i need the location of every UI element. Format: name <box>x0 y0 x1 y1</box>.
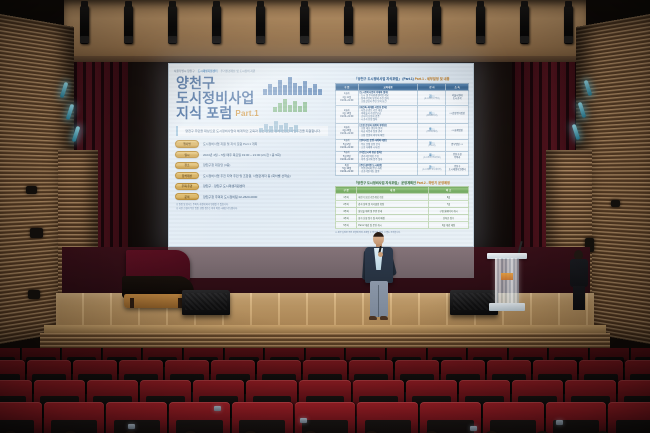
slide-left-column: 양천구 도시정비사업 지식 포럼 Part.1 양천구 주민을 대상으로 도시정… <box>173 75 331 240</box>
schedule-cell-time: 4회차5월 2일19:00~21:00 <box>336 139 359 151</box>
schedule-table-1-row: 2회차4월 18일19:00~21:00[재건축·재개발 사업성 분석]· 사업… <box>336 106 469 124</box>
schedule-cell-topic: [재건축·재개발 사업성 분석]· 사업성 검토 기본 개념· 비례율과 추정분… <box>358 106 418 124</box>
schedule-cell-speaker: 정○○(변호사) <box>418 139 446 151</box>
auditorium-seat <box>546 402 607 433</box>
schedule-cell-speaker: 이○○(감정평가사) <box>418 106 446 124</box>
schedule-table-1: 구 분교육내용강 사소 속 1회차4월 11일19:00~21:00[도시정비사… <box>335 83 469 176</box>
skyline-bar <box>273 87 277 95</box>
schedule-table-2-cell: 5주차 <box>336 222 357 229</box>
wall-fixture-right-upper <box>611 200 620 207</box>
schedule-cell-speaker: 박○○(공인회계사) <box>418 124 446 139</box>
slide-title-line-3: 지식 포럼 <box>176 106 232 121</box>
slide-bullet-text: 2024년 4월 ~ 5월 매주 목요일 19:00 ~ 21:00 (2시간 … <box>203 153 281 157</box>
piano-leg-left <box>130 298 134 308</box>
schedule-table-2: 구 분내 용비 고 1주차하반기 포럼 기본계획 수립6월2주차강사 섭외 및 … <box>335 186 469 229</box>
schedule-topic-detail: · 주민협의체 운영 사례· 공공지원 제도 활용 <box>360 168 417 174</box>
schedule-table-2-cell: 4주차 <box>336 215 357 222</box>
skyline-bar <box>269 126 273 132</box>
slide-footnotes: ※ 일정 및 강사는 주최측 사정에 따라 변경될 수 있습니다.※ 사전 신청… <box>176 204 331 210</box>
schedule-cell-topic: [주민 참여형 도시재생]· 주민협의체 운영 사례· 공공지원 제도 활용 <box>358 163 418 175</box>
schedule-speaker-title: (감정평가사) <box>426 115 437 117</box>
schedule-table-1-col-header: 강 사 <box>418 83 446 90</box>
schedule-cell-time: 2회차4월 18일19:00~21:00 <box>336 106 359 124</box>
schedule-cell-org: 법무법인 ○○ <box>446 139 469 151</box>
skyline-bar <box>263 89 267 95</box>
spotlight-1 <box>80 6 89 44</box>
skyline-bar <box>273 107 277 112</box>
auditorium-seat <box>608 402 650 433</box>
schedule-table-1-row: 특강5월 16일19:00~21:00[주민 참여형 도시재생]· 주민협의체 … <box>336 163 469 175</box>
schedule-cell-org: 서울시립대도시공학 <box>446 90 469 105</box>
audience-phone-screen <box>470 426 477 431</box>
slide-footnote: ※ 사전 신청자 우선 입장, 현장 접수는 좌석 여유 시에만 가능합니다. <box>176 208 331 211</box>
schedule-table-1-row: 1회차4월 11일19:00~21:00[도시정비사업의 이해와 절차]· 도시… <box>336 90 469 105</box>
spotlight-12 <box>564 6 573 44</box>
schedule-table-2-cell: 9월 개강 예정 <box>429 222 469 229</box>
spotlight-7 <box>344 6 353 44</box>
auditorium-seat <box>357 402 418 433</box>
slide-bullet-badge: 행사명 <box>175 140 199 147</box>
schedule-table-2-cell: 1주차 <box>336 194 357 201</box>
schedule-table-2-cell: Part.2 개강 및 운영 개시 <box>357 222 429 229</box>
schedule-table-2-title-accent: Part.2 - 하반기 운영예정 <box>416 181 450 185</box>
schedule-table-2-footnote: ※ 세부 일정은 추진 상황에 따라 조정될 수 있으며, 확정 시 별도 공지… <box>335 231 469 234</box>
skyline-bar <box>294 125 298 132</box>
spotlight-6 <box>300 6 309 44</box>
audience-phone-screen <box>556 420 563 425</box>
schedule-table-2-cell: 구청 홈페이지 게시 <box>429 208 469 215</box>
presentation-slide: 서울특별시 양천구 도시재생지원센터 주거환경개선 및 도시정비 지원 양천구 … <box>169 64 473 246</box>
schedule-table-2-cell: 7월 <box>429 201 469 208</box>
slide-bullet-text: 양천구 · 양천구 도시재생지원센터 <box>203 184 245 188</box>
schedule-table-1-row: 4회차5월 2일19:00~21:00[정비사업 분쟁 사례와 예방]· 주요 … <box>336 139 469 151</box>
skyline-bar <box>274 121 278 132</box>
schedule-table-1-col-header: 구 분 <box>336 83 359 90</box>
podium <box>487 253 527 313</box>
lighting-truss-beam <box>62 0 590 62</box>
skyline-bar <box>288 105 292 112</box>
skyline-bar <box>303 102 307 112</box>
slide-bullet-row: 참석대상도시정비사업 추진 지역 주민 및 조합원, 사업관계자 등 (회차별 … <box>175 172 331 179</box>
skyline-bar <box>289 127 293 132</box>
slide-bullet-row: 문의양천구청 주택과 도시정비팀 02-2620-0000 <box>175 193 331 200</box>
schedule-table-2-row: 1주차하반기 포럼 기본계획 수립6월 <box>336 194 469 201</box>
slide-bullet-badge: 문의 <box>175 193 199 200</box>
slide-right-column: 「양천구 도시정비사업 지식포럼」 (Part.1) Part.1 - 세부일정… <box>335 75 469 240</box>
wall-vent-left <box>28 290 40 299</box>
staff-member-right <box>568 250 590 312</box>
skyline-bar <box>298 106 302 112</box>
city-skyline-graphic <box>255 77 329 139</box>
slide-header: 서울특별시 양천구 도시재생지원센터 주거환경개선 및 도시정비 지원 <box>174 67 468 74</box>
presenter-shoe-right <box>380 316 388 320</box>
schedule-table-2-cell: 참가 신청 접수 및 좌석 배정 <box>357 215 429 222</box>
auditorium-seat <box>44 402 105 433</box>
schedule-cell-org: 양천구청주택과 <box>446 151 469 163</box>
skyline-bar <box>283 85 287 95</box>
schedule-cell-time: 5회차5월 9일19:00~21:00 <box>336 151 359 163</box>
auditorium-seat <box>232 402 293 433</box>
slide-bullet-badge: 참석대상 <box>175 172 199 179</box>
schedule-cell-time: 특강5월 16일19:00~21:00 <box>336 163 359 175</box>
slide-bullet-badge: 일시 <box>175 151 199 158</box>
schedule-table-2-title-main: 「양천구 도시정비사업 지식포럼」 운영계획안 <box>354 181 416 185</box>
schedule-speaker-title: (변호사) <box>428 145 435 147</box>
stage-monitor-left <box>182 290 230 315</box>
skyline-bar <box>283 99 287 112</box>
wall-speaker-left <box>30 228 43 238</box>
skyline-bar <box>279 125 283 132</box>
schedule-table-2-row: 5주차Part.2 개강 및 운영 개시9월 개강 예정 <box>336 222 469 229</box>
schedule-speaker-title: (도시재생 코디네이터) <box>422 169 441 171</box>
spotlight-3 <box>168 6 177 44</box>
slide-bullet-list: 행사명도시정비사업 지원 및 지식 포럼 Part.1 개최일시2024년 4월… <box>175 140 331 200</box>
spotlight-2 <box>124 6 133 44</box>
auditorium-seat <box>106 402 167 433</box>
audience-phone-screen <box>128 424 135 429</box>
schedule-table-2-cell: 하반기 포럼 기본계획 수립 <box>357 194 429 201</box>
podium-base <box>489 303 525 311</box>
audience-seating <box>0 348 650 433</box>
spotlight-10 <box>476 6 485 44</box>
schedule-cell-org: ○○감정평가법인 <box>446 106 469 124</box>
schedule-cell-time: 1회차4월 11일19:00~21:00 <box>336 90 359 105</box>
schedule-table-2-title: 「양천구 도시정비사업 지식포럼」 운영계획안 Part.2 - 하반기 운영예… <box>335 178 469 186</box>
wall-fixture-left-upper <box>26 186 37 194</box>
slide-bullet-text: 도시정비사업 지원 및 지식 포럼 Part.1 개최 <box>203 142 257 146</box>
schedule-cell-speaker: 최○○(도시정비 전문위원) <box>418 151 446 163</box>
schedule-table-2-row: 4주차참가 신청 접수 및 좌석 배정선착순 접수 <box>336 215 469 222</box>
schedule-speaker-title: (도시계획학 박사) <box>424 98 439 100</box>
skyline-bar <box>284 123 288 132</box>
staff-legs <box>573 286 585 310</box>
podium-column <box>495 258 519 304</box>
schedule-table-1-title: 「양천구 도시정비사업 지식포럼」 (Part.1) Part.1 - 세부일정… <box>335 75 469 83</box>
spotlight-9 <box>432 6 441 44</box>
schedule-table-2-cell: 6월 <box>429 194 469 201</box>
slide-header-left: 서울특별시 양천구 <box>174 69 195 73</box>
schedule-cell-org: ○○회계법인 <box>446 124 469 139</box>
spotlight-5 <box>256 6 265 44</box>
presenter-hand <box>378 252 383 257</box>
schedule-table-1-row: 5회차5월 9일19:00~21:00[이전고시와 청산 절차]· 관리처분계획… <box>336 151 469 163</box>
schedule-table-2-header-row: 구 분내 용비 고 <box>336 187 469 194</box>
skyline-bar <box>259 128 263 132</box>
skyline-bar <box>293 83 297 95</box>
schedule-table-2-col-header: 내 용 <box>357 187 429 194</box>
schedule-table-2-row: 3주차홍보물 제작 및 주민 안내구청 홈페이지 게시 <box>336 208 469 215</box>
schedule-speaker-title: (도시정비 전문위원) <box>423 157 440 159</box>
slide-header-right: 주거환경개선 및 도시정비 지원 <box>221 69 256 73</box>
slide-bullet-badge: 주최·주관 <box>175 183 199 190</box>
schedule-table-1-row: 3회차4월 25일19:00~21:00[조합 운영과 회계의 투명성]· 조합… <box>336 124 469 139</box>
skyline-bar <box>288 77 292 95</box>
schedule-cell-org: 양천구도시재생지원센터 <box>446 163 469 175</box>
slide-header-highlight: 도시재생지원센터 <box>198 69 218 73</box>
slide-bullet-text: 양천구청 대강당 (3층) <box>203 163 230 167</box>
slide-bullet-row: 일시2024년 4월 ~ 5월 매주 목요일 19:00 ~ 21:00 (2시… <box>175 151 331 158</box>
auditorium-seat <box>0 402 42 433</box>
spotlight-4 <box>212 6 221 44</box>
stage-back-wall-panel <box>168 247 474 278</box>
schedule-cell-speaker: 한○○(도시재생 코디네이터) <box>418 163 446 175</box>
schedule-cell-topic: [정비사업 분쟁 사례와 예방]· 주요 분쟁 유형 분석· 소송 사례와 시사… <box>358 139 418 151</box>
auditorium-photo: 서울특별시 양천구 도시재생지원센터 주거환경개선 및 도시정비 지원 양천구 … <box>0 0 650 433</box>
skyline-bar <box>278 103 282 112</box>
schedule-cell-topic: [이전고시와 청산 절차]· 관리처분계획 수립· 이주·철거와 입주 절차 <box>358 151 418 163</box>
audience-phone-screen <box>214 406 221 411</box>
slide-bullet-row: 행사명도시정비사업 지원 및 지식 포럼 Part.1 개최 <box>175 140 331 147</box>
schedule-table-2-body: 1주차하반기 포럼 기본계획 수립6월2주차강사 섭외 및 커리큘럼 확정7월3… <box>336 194 469 229</box>
schedule-table-1-col-header: 교육내용 <box>358 83 418 90</box>
skyline-bar <box>293 101 297 112</box>
slide-bullet-badge: 장소 <box>175 162 199 169</box>
skyline-bar <box>268 84 272 95</box>
schedule-topic-detail: · 관리처분계획 수립· 이주·철거와 입주 절차 <box>360 156 417 162</box>
schedule-cell-speaker: 김○○(도시계획학 박사) <box>418 90 446 105</box>
skyline-bar <box>303 81 307 95</box>
schedule-table-1-title-accent: Part.1 - 세부일정 및 내용 <box>414 77 450 81</box>
presenter-trousers <box>370 281 388 317</box>
schedule-table-1-body: 1회차4월 11일19:00~21:00[도시정비사업의 이해와 절차]· 도시… <box>336 90 469 175</box>
auditorium-seat <box>483 402 544 433</box>
slide-bullet-text: 도시정비사업 추진 지역 주민 및 조합원, 사업관계자 등 (회차별 선착순) <box>203 174 291 178</box>
schedule-cell-time: 3회차4월 25일19:00~21:00 <box>336 124 359 139</box>
slide-bullet-row: 주최·주관양천구 · 양천구 도시재생지원센터 <box>175 183 331 190</box>
schedule-cell-topic: [조합 운영과 회계의 투명성]· 조합 예산·결산의 원칙· 자금 차입과 집… <box>358 124 418 139</box>
schedule-topic-detail: · 사업성 검토 기본 개념· 비례율과 추정분담금· 공사비 산정과 검증· … <box>360 110 417 122</box>
slide-bullet-row: 장소양천구청 대강당 (3층) <box>175 162 331 169</box>
skyline-bar <box>318 89 322 95</box>
skyline-bar <box>298 86 302 95</box>
staff-torso <box>570 259 588 287</box>
spotlight-8 <box>388 6 397 44</box>
schedule-table-2-col-header: 비 고 <box>429 187 469 194</box>
schedule-cell-topic: [도시정비사업의 이해와 절차]· 도시 및 주거환경정비법 개요· 정비사업의… <box>358 90 418 105</box>
skyline-bar <box>278 80 282 95</box>
schedule-table-1-header-row: 구 분교육내용강 사소 속 <box>336 83 469 90</box>
schedule-table-1-col-header: 소 속 <box>446 83 469 90</box>
schedule-table-2-cell: 홍보물 제작 및 주민 안내 <box>357 208 429 215</box>
projection-screen: 서울특별시 양천구 도시재생지원센터 주거환경개선 및 도시정비 지원 양천구 … <box>168 63 474 247</box>
schedule-table-2-row: 2주차강사 섭외 및 커리큘럼 확정7월 <box>336 201 469 208</box>
skyline-bar <box>264 124 268 132</box>
audience-seat-row <box>0 402 650 433</box>
skyline-bar <box>308 88 312 95</box>
presenter-shoe-left <box>369 316 377 320</box>
schedule-topic-detail: · 도시 및 주거환경정비법 개요· 정비사업의 유형과 추진 절차· 조합설립… <box>360 95 417 104</box>
schedule-table-2-cell: 선착순 접수 <box>429 215 469 222</box>
spotlight-11 <box>520 6 529 44</box>
schedule-table-2-cell: 강사 섭외 및 커리큘럼 확정 <box>357 201 429 208</box>
schedule-topic-detail: · 조합 예산·결산의 원칙· 자금 차입과 집행 관리· 조합 임원의 의무와… <box>360 128 417 137</box>
slide-bullet-text: 양천구청 주택과 도시정비팀 02-2620-0000 <box>203 195 257 199</box>
schedule-topic-detail: · 주요 분쟁 유형 분석· 소송 사례와 시사점 <box>360 144 417 150</box>
schedule-speaker-title: (공인회계사) <box>426 131 437 133</box>
presenter <box>358 232 400 324</box>
schedule-table-2-col-header: 구 분 <box>336 187 357 194</box>
schedule-table-2-cell: 2주차 <box>336 201 357 208</box>
schedule-table-2-cell: 3주차 <box>336 208 357 215</box>
skyline-bar <box>313 84 317 95</box>
audience-phone-screen <box>300 418 307 423</box>
schedule-table-1-title-main: 「양천구 도시정비사업 지식포럼」 (Part.1) <box>354 77 413 81</box>
podium-emblem <box>501 273 513 280</box>
